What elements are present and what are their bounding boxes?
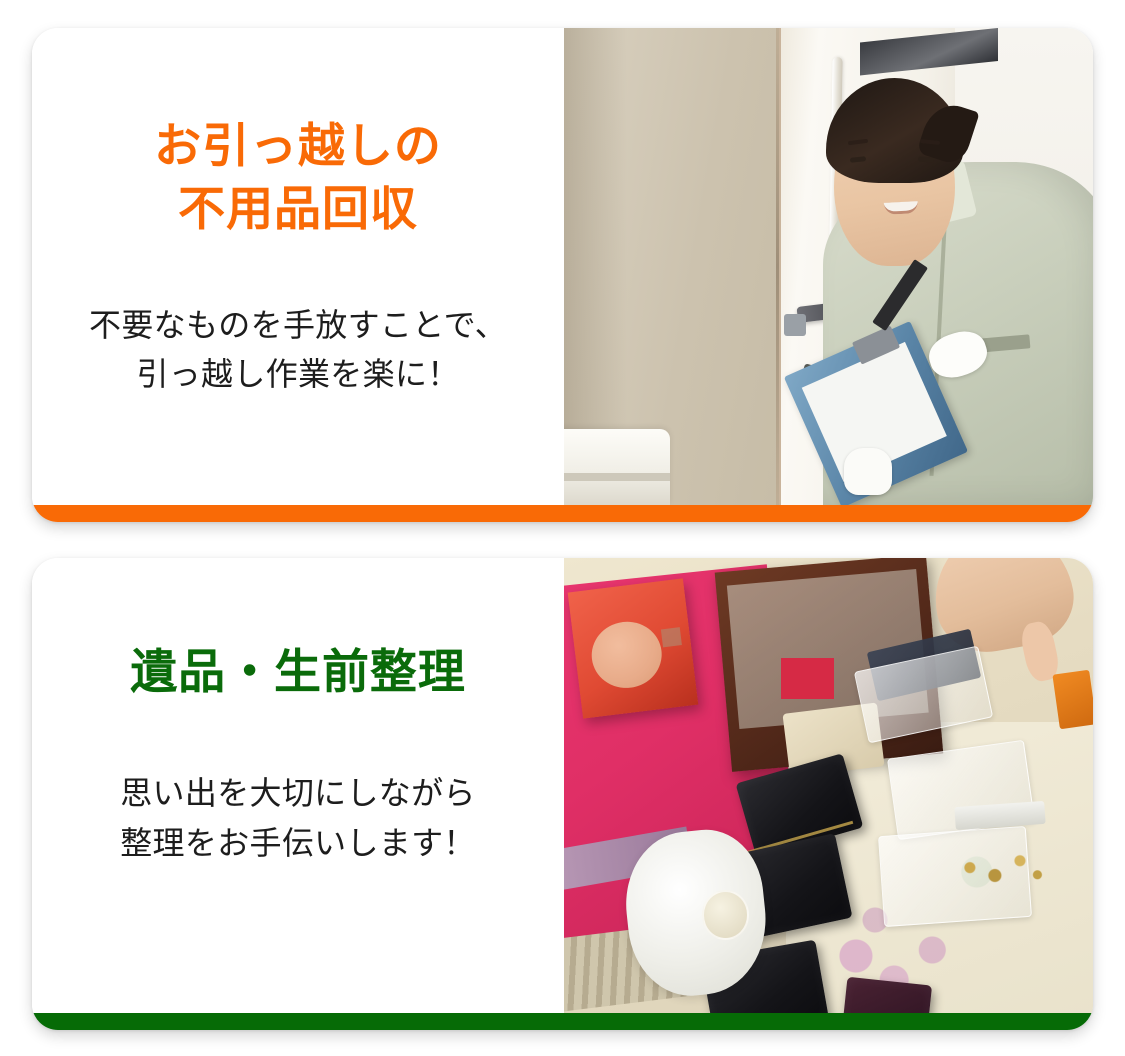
card-accent-bar-green (32, 1013, 1093, 1030)
service-card-estate-organizing[interactable]: 遺品・生前整理 思い出を大切にしながら 整理をお手伝いします！ (32, 558, 1093, 1030)
card-content: 遺品・生前整理 思い出を大切にしながら 整理をお手伝いします！ (32, 558, 1093, 1013)
service-card-moving-disposal[interactable]: お引っ越しの 不用品回収 不要なものを手放すことで、 引っ越し作業を楽に！ (32, 28, 1093, 522)
card-photo-column (564, 558, 1093, 1013)
photo-fridge-handle-bracket (784, 314, 806, 336)
photo-red-pouch (781, 658, 834, 699)
photo-counter-edge (564, 473, 670, 481)
photo-keepsake-sorting (564, 558, 1093, 1013)
photo-red-box-label (661, 628, 682, 648)
card-title-estate-organizing: 遺品・生前整理 (130, 640, 466, 703)
card-accent-bar-orange (32, 505, 1093, 522)
photo-round-ornament (702, 890, 750, 940)
photo-worker-with-clipboard (564, 28, 1093, 505)
card-text-column: お引っ越しの 不用品回収 不要なものを手放すことで、 引っ越し作業を楽に！ (32, 28, 564, 505)
photo-fridge-seam (776, 28, 779, 505)
photo-red-gift-box (567, 579, 698, 720)
photo-orange-item (1052, 669, 1093, 728)
photo-gold-jewelry (948, 840, 1052, 899)
card-title-moving-disposal: お引っ越しの 不用品回収 (154, 114, 442, 241)
service-cards-page: お引っ越しの 不用品回収 不要なものを手放すことで、 引っ越し作業を楽に！ (0, 0, 1125, 1056)
card-description-moving-disposal: 不要なものを手放すことで、 引っ越し作業を楽に！ (89, 301, 507, 400)
photo-worker-glove-lower (844, 448, 892, 496)
card-content: お引っ越しの 不用品回収 不要なものを手放すことで、 引っ越し作業を楽に！ (32, 28, 1093, 505)
card-text-column: 遺品・生前整理 思い出を大切にしながら 整理をお手伝いします！ (32, 558, 564, 1013)
photo-red-box-emblem (588, 618, 665, 692)
photo-worker-eye-right (918, 156, 934, 162)
card-description-estate-organizing: 思い出を大切にしながら 整理をお手伝いします！ (120, 769, 476, 868)
photo-counter (564, 429, 670, 505)
card-photo-column (564, 28, 1093, 505)
